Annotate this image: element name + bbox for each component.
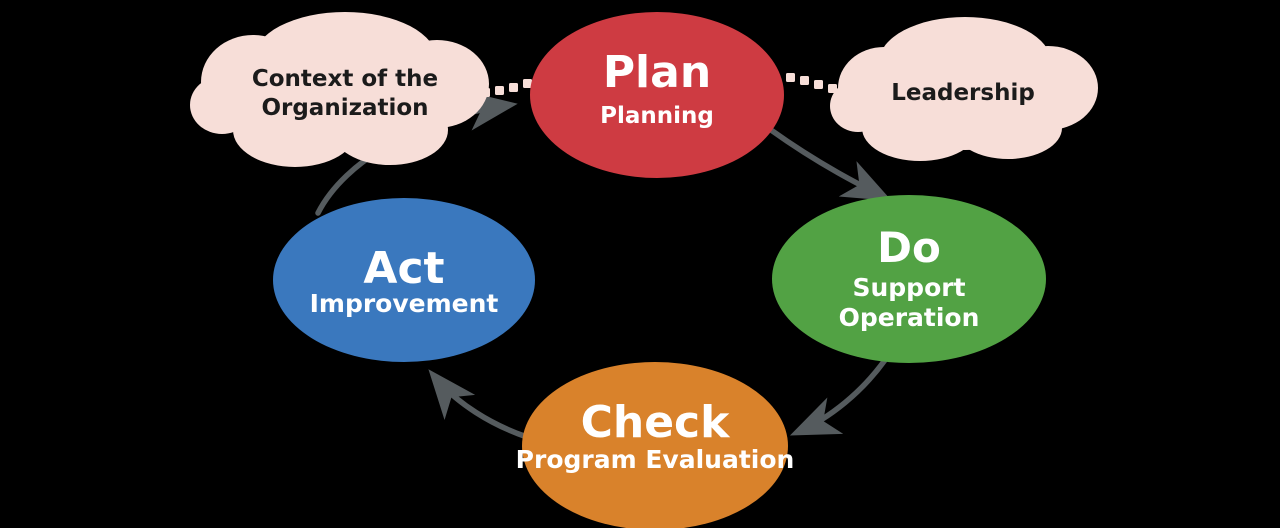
- node-do-title: Do: [877, 223, 941, 272]
- pdca-nodes-layer: Plan Planning Do Support Operation Check…: [0, 0, 1280, 528]
- node-check-title: Check: [581, 397, 732, 448]
- node-plan[interactable]: Plan Planning: [530, 12, 784, 178]
- node-do-subtitle-line-1: Support: [852, 273, 965, 302]
- node-do-subtitle-line-2: Operation: [839, 303, 980, 332]
- node-check[interactable]: Check Program Evaluation: [516, 362, 795, 528]
- node-act-title: Act: [363, 243, 444, 294]
- node-act[interactable]: Act Improvement: [273, 198, 535, 362]
- pdca-diagram-canvas: Context of the Organization Leadership: [0, 0, 1280, 528]
- node-plan-subtitle: Planning: [600, 103, 714, 129]
- node-plan-title: Plan: [603, 47, 711, 98]
- node-act-subtitle: Improvement: [310, 289, 499, 318]
- node-check-subtitle: Program Evaluation: [516, 445, 795, 474]
- node-do[interactable]: Do Support Operation: [772, 195, 1046, 363]
